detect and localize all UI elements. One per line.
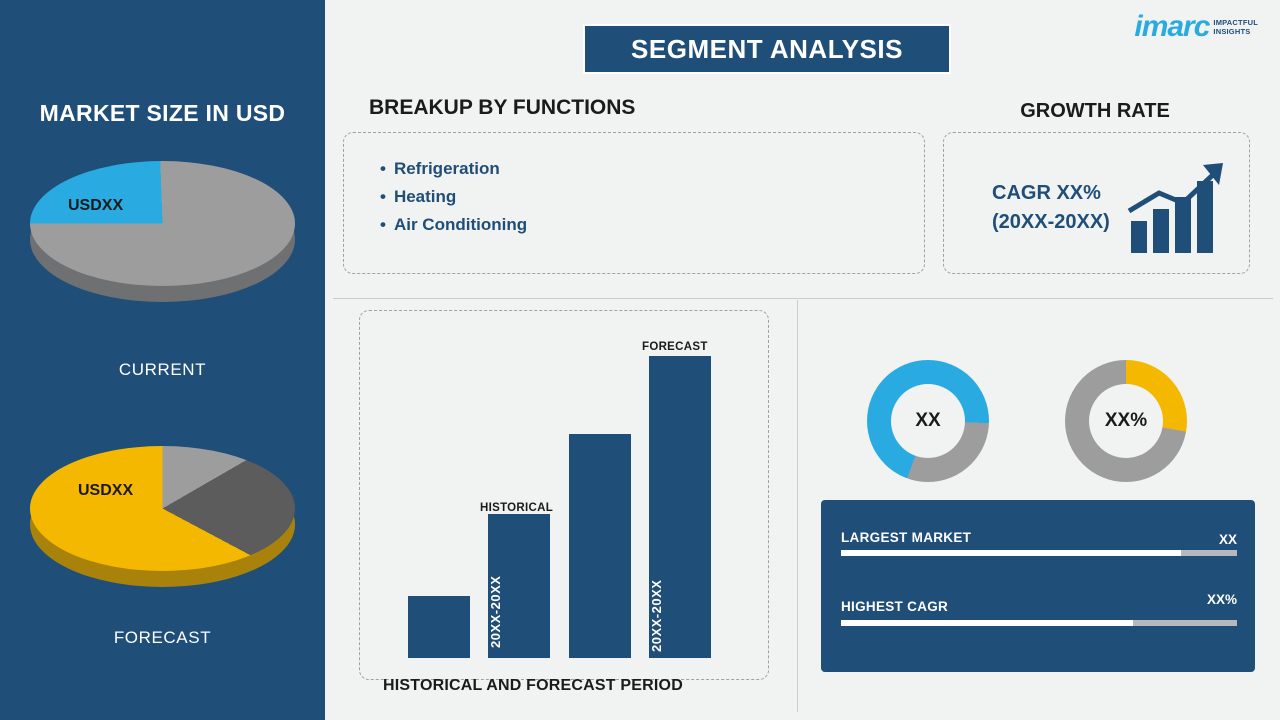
historical-tag: HISTORICAL (480, 502, 553, 514)
bar-2 (569, 434, 631, 658)
imarc-logo: imarc IMPACTFUL INSIGHTS (1134, 12, 1258, 42)
pie-top-surface (30, 161, 295, 286)
breakup-title: BREAKUP BY FUNCTIONS (369, 96, 635, 120)
info-row-1-label: HIGHEST CAGR (841, 599, 948, 614)
breakup-item-2: Air Conditioning (380, 211, 527, 239)
vertical-divider (797, 300, 798, 712)
bar-3: 20XX-20XX (649, 356, 711, 658)
cagr-line-2: (20XX-20XX) (992, 208, 1110, 237)
current-pie-label: CURRENT (0, 360, 325, 380)
logo-tagline-line2: INSIGHTS (1213, 27, 1258, 36)
info-row-1-value: XX% (1207, 592, 1237, 607)
growth-rate-title: GROWTH RATE (945, 100, 1245, 123)
info-row-1-fill (841, 620, 1133, 626)
horizontal-divider (333, 298, 1273, 299)
breakup-item-1: Heating (380, 183, 527, 211)
breakup-item-0: Refrigeration (380, 155, 527, 183)
current-pie-chart: USDXX (30, 155, 295, 305)
info-card: LARGEST MARKET XX HIGHEST CAGR XX% (821, 500, 1255, 672)
right-content: SEGMENT ANALYSIS imarc IMPACTFUL INSIGHT… (325, 0, 1280, 720)
info-row-0-value: XX (1219, 532, 1237, 547)
growth-arrow-icon (1125, 159, 1235, 259)
current-pie-value: USDXX (68, 197, 123, 215)
left-panel: MARKET SIZE IN USD USDXX CURRENT USDXX F… (0, 0, 325, 720)
donut-left-value: XX (915, 410, 940, 432)
cagr-text: CAGR XX% (20XX-20XX) (992, 179, 1110, 237)
forecast-pie-label: FORECAST (0, 628, 325, 648)
bar-0 (408, 596, 470, 658)
market-size-title: MARKET SIZE IN USD (0, 100, 325, 127)
breakup-box: Refrigeration Heating Air Conditioning (343, 132, 925, 274)
infographic-page: MARKET SIZE IN USD USDXX CURRENT USDXX F… (0, 0, 1280, 720)
donut-right-value: XX% (1105, 410, 1147, 432)
logo-tagline: IMPACTFUL INSIGHTS (1213, 18, 1258, 37)
logo-tagline-line1: IMPACTFUL (1213, 18, 1258, 27)
segment-analysis-banner: SEGMENT ANALYSIS (583, 24, 951, 74)
forecast-pie-value: USDXX (78, 482, 133, 500)
breakup-list: Refrigeration Heating Air Conditioning (380, 155, 527, 239)
bar-1: 20XX-20XX (488, 514, 550, 658)
info-row-0-fill (841, 550, 1181, 556)
donut-left-value-wrap: XX (891, 384, 965, 458)
info-row-0-label: LARGEST MARKET (841, 530, 971, 545)
logo-wordmark: imarc (1134, 12, 1209, 42)
forecast-tag: FORECAST (642, 341, 708, 353)
bar-1-label: 20XX-20XX (488, 528, 550, 648)
bar-3-label: 20XX-20XX (649, 532, 711, 652)
cagr-line-1: CAGR XX% (992, 179, 1110, 208)
donut-right-value-wrap: XX% (1089, 384, 1163, 458)
growth-box: CAGR XX% (20XX-20XX) (943, 132, 1250, 274)
chart-caption: HISTORICAL AND FORECAST PERIOD (383, 677, 683, 695)
forecast-pie-chart: USDXX (30, 440, 295, 590)
forecast-pie-top-surface (30, 446, 295, 571)
